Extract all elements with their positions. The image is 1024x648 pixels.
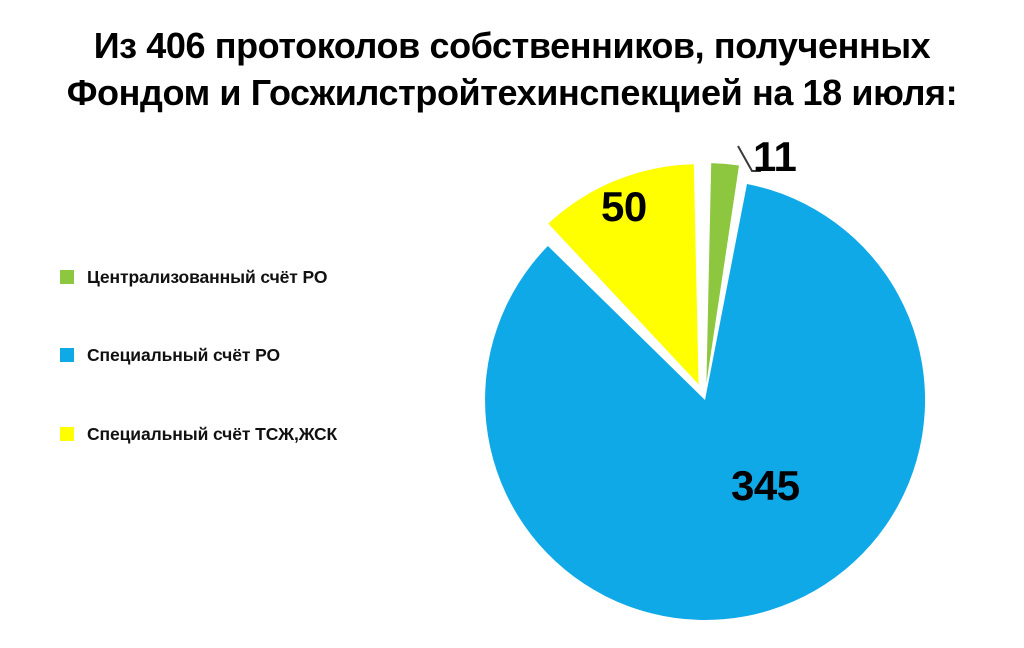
data-label-blue: 345 xyxy=(731,462,800,510)
page-title: Из 406 протоколов собственников, получен… xyxy=(0,22,1024,116)
data-label-green: 11 xyxy=(753,133,796,181)
pie-slice-special-account-ro[interactable] xyxy=(485,184,925,620)
legend-item-special-account-ro[interactable]: Специальный счёт РО xyxy=(60,344,280,366)
legend-label-special-account-tszh: Специальный счёт ТСЖ,ЖСК xyxy=(87,424,337,445)
pie-chart xyxy=(455,130,975,640)
title-line-2: Фондом и Госжилстройтехинспекцией на 18 … xyxy=(0,69,1024,116)
pie-chart-svg xyxy=(455,130,975,640)
legend-label-centralized-account: Централизованный счёт РО xyxy=(87,267,327,288)
legend-swatch-blue xyxy=(60,348,74,362)
chart-page: Из 406 протоколов собственников, получен… xyxy=(0,0,1024,648)
legend-swatch-green xyxy=(60,270,74,284)
legend-label-special-account-ro: Специальный счёт РО xyxy=(87,345,280,366)
title-line-1: Из 406 протоколов собственников, получен… xyxy=(0,22,1024,69)
data-label-yellow: 50 xyxy=(601,183,647,231)
legend-swatch-yellow xyxy=(60,427,74,441)
legend-item-centralized-account[interactable]: Централизованный счёт РО xyxy=(60,266,327,288)
legend-item-special-account-tszh[interactable]: Специальный счёт ТСЖ,ЖСК xyxy=(60,423,337,445)
